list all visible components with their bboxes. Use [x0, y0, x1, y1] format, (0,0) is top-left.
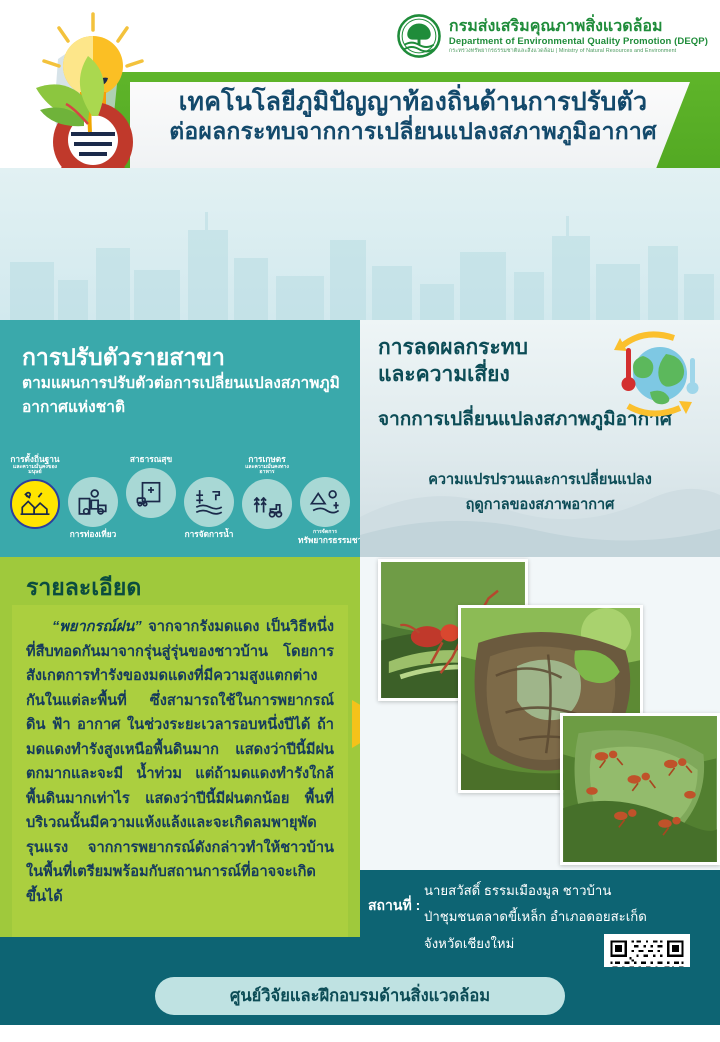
mitigation-risk-panel: การลดผลกระทบ และความเสี่ยง จากการเปลี่ยน… [360, 320, 720, 557]
sector-item-tourism[interactable]: การท่องเที่ยว [66, 477, 120, 540]
technology-name-band: ชื่อเทคโนโลยี : “พยากรณ์ฝน” จากรังมดแดง [0, 168, 720, 320]
risk-heading-line-1: การลดผลกระทบ [378, 334, 528, 361]
footer-text: ศูนย์วิจัยและฝึกอบรมด้านสิ่งแวดล้อม [230, 983, 490, 1009]
ants-on-leaf-photo [560, 713, 720, 865]
sector-sublabel-agriculture: และความมั่นคงทางอาหาร [240, 465, 294, 476]
detail-heading: รายละเอียด [26, 570, 141, 606]
location-label: สถานที่ : [368, 895, 420, 917]
sector-panel-heading: การปรับตัวรายสาขา [22, 340, 225, 376]
sector-item-water[interactable]: การจัดการน้ำ [182, 477, 236, 540]
detail-text-box: “พยากรณ์ฝน” จากจากรังมดแดง เป็นวิธีหนึ่ง… [12, 605, 348, 937]
globe-thermometer-icon [598, 328, 708, 423]
sector-sublabel-settlement: และความมั่นคงของมนุษย์ [8, 465, 62, 476]
risk-heading-line-2: และความเสี่ยง [378, 361, 528, 388]
deqp-logo: กรมส่งเสริมคุณภาพสิ่งแวดล้อม Department … [397, 14, 708, 58]
risk-sub-line-1: ความแปรปรวนและการเปลี่ยนแปลง [360, 468, 720, 493]
risk-sub-line-2: ฤดูกาลของสภาพอากาศ [360, 493, 720, 518]
sector-item-settlement[interactable]: การตั้งถิ่นฐาน และความมั่นคงของมนุษย์ [8, 455, 62, 529]
sector-icon-row: การตั้งถิ่นฐาน และความมั่นคงของมนุษย์ กา… [8, 455, 356, 550]
sector-adaptation-panel: การปรับตัวรายสาขา ตามแผนการปรับตัวต่อการ… [0, 320, 360, 557]
sector-panel-subheading: ตามแผนการปรับตัวต่อการเปลี่ยนแปลงสภาพภูม… [22, 372, 342, 420]
agency-name-th: กรมส่งเสริมคุณภาพสิ่งแวดล้อม [449, 18, 708, 36]
sector-item-natural-resources[interactable]: การจัดการ ทรัพยากรธรรมชาติ [298, 477, 352, 545]
sector-label-water: การจัดการน้ำ [182, 530, 236, 540]
risk-panel-heading: การลดผลกระทบ และความเสี่ยง [378, 334, 528, 389]
title-line-2: ต่อผลกระทบจากการเปลี่ยนแปลงสภาพภูมิอากาศ [148, 118, 678, 145]
title-line-1: เทคโนโลยีภูมิปัญญาท้องถิ่นด้านการปรับตัว [148, 88, 678, 118]
sector-label-tourism: การท่องเที่ยว [66, 530, 120, 540]
water-management-faucet-icon [184, 477, 234, 527]
sector-item-public-health[interactable]: สาธารณสุข [124, 455, 178, 518]
city-skyline-icon [0, 210, 720, 320]
public-health-hospital-icon [126, 468, 176, 518]
deqp-emblem-icon [397, 14, 441, 58]
agency-name-en: Department of Environmental Quality Prom… [449, 37, 708, 48]
natural-resources-mountain-icon [300, 477, 350, 527]
location-line-2: ป่าชุมชนตลาดขี้เหล็ก อำเภอดอยสะเก็ด [424, 904, 654, 930]
agriculture-wheat-tractor-icon [242, 479, 292, 529]
sector-item-agriculture[interactable]: การเกษตร และความมั่นคงทางอาหาร [240, 455, 294, 529]
detail-body: จากจากรังมดแดง เป็นวิธีหนึ่งที่สืบทอดกัน… [26, 619, 334, 905]
tourism-city-bus-icon [68, 477, 118, 527]
location-line-1: นายสวัสดิ์ ธรรมเมืองมูล ชาวบ้าน [424, 878, 654, 904]
detail-paragraph: “พยากรณ์ฝน” จากจากรังมดแดง เป็นวิธีหนึ่ง… [26, 615, 334, 909]
sector-label-natural-resources: ทรัพยากรธรรมชาติ [298, 536, 352, 546]
page-title: เทคโนโลยีภูมิปัญญาท้องถิ่นด้านการปรับตัว… [148, 88, 678, 145]
photo-collage [360, 557, 720, 870]
sector-label-public-health: สาธารณสุข [124, 455, 178, 465]
agency-ministry: กระทรวงทรัพยากรธรรมชาติและสิ่งแวดล้อม | … [449, 48, 708, 54]
detail-quote: “พยากรณ์ฝน” [52, 619, 142, 635]
settlement-houses-icon [10, 479, 60, 529]
bottom-white-strip [0, 1025, 720, 1040]
footer-pill[interactable]: ศูนย์วิจัยและฝึกอบรมด้านสิ่งแวดล้อม [155, 977, 565, 1015]
risk-panel-subtext: ความแปรปรวนและการเปลี่ยนแปลง ฤดูกาลของสภ… [360, 468, 720, 519]
